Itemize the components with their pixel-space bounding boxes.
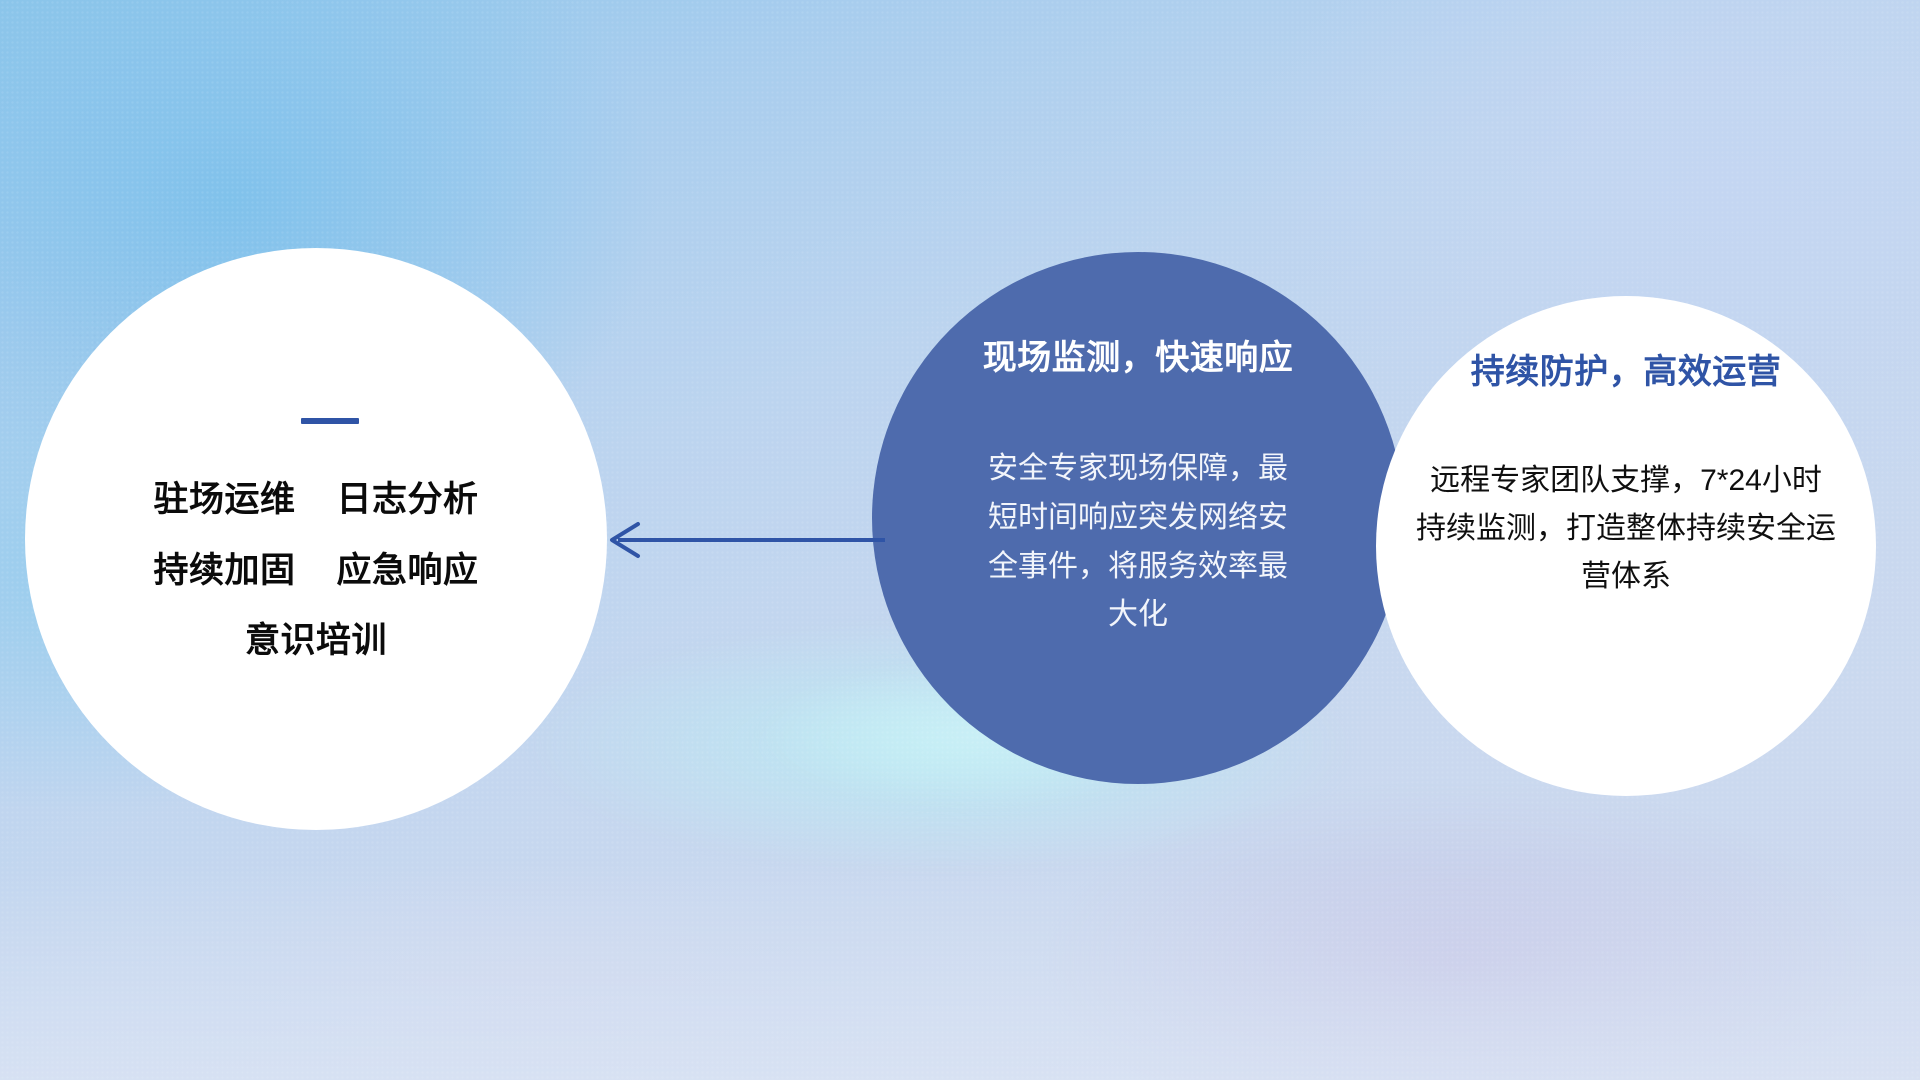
onsite-monitoring-title: 现场监测，快速响应 [983, 340, 1294, 377]
onsite-monitoring-body: 安全专家现场保障，最短时间响应突发网络安全事件，将服务效率最大化 [988, 445, 1288, 639]
left-circle-content: 驻场运维 日志分析 持续加固 应急响应 意识培训 [25, 248, 607, 830]
left-capability-circle: 驻场运维 日志分析 持续加固 应急响应 意识培训 [25, 248, 607, 830]
middle-circle-content: 现场监测，快速响应 安全专家现场保障，最短时间响应突发网络安全事件，将服务效率最… [872, 252, 1404, 784]
divider-rule [301, 418, 359, 424]
right-circle-content: 持续防护，高效运营 远程专家团队支撑，7*24小时持续监测，打造整体持续安全运营… [1376, 296, 1876, 796]
continuous-protection-title: 持续防护，高效运营 [1471, 354, 1782, 391]
capability-line-3: 意识培训 [245, 623, 387, 660]
capability-line-1: 驻场运维 日志分析 [154, 482, 479, 519]
arrow-left-icon [560, 500, 890, 580]
continuous-protection-body: 远程专家团队支撑，7*24小时持续监测，打造整体持续安全运营体系 [1416, 457, 1836, 601]
capability-line-2: 持续加固 应急响应 [154, 553, 479, 590]
onsite-monitoring-circle: 现场监测，快速响应 安全专家现场保障，最短时间响应突发网络安全事件，将服务效率最… [872, 252, 1404, 784]
continuous-protection-circle: 持续防护，高效运营 远程专家团队支撑，7*24小时持续监测，打造整体持续安全运营… [1376, 296, 1876, 796]
